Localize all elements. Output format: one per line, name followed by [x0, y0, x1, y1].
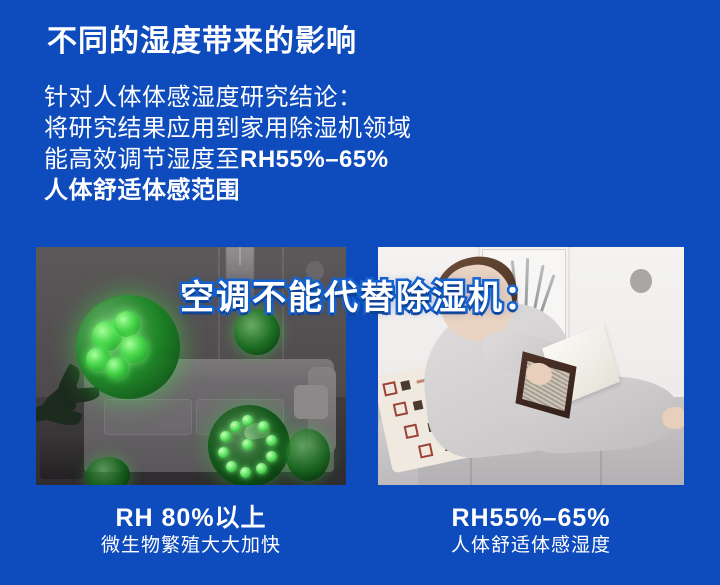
- copy-line-3: 能高效调节湿度至RH55%–65%: [44, 144, 514, 175]
- left-photo-pillow: [294, 385, 328, 419]
- bacteria-sphere-small: [86, 457, 130, 485]
- copy-line-3-prefix: 能高效调节湿度至: [44, 146, 240, 173]
- left-photo-sofa-cushion: [104, 399, 192, 435]
- caption-right-title: RH55%–65%: [378, 503, 684, 533]
- left-photo-plant-pot: [40, 433, 84, 479]
- overlay-headline: 空调不能代替除湿机：: [0, 270, 720, 319]
- caption-right-subtitle: 人体舒适体感湿度: [378, 533, 684, 559]
- copy-line-2: 将研究结果应用到家用除湿机领域: [44, 113, 514, 144]
- page-title: 不同的湿度带来的影响: [47, 16, 357, 60]
- body-copy-block: 针对人体体感湿度研究结论： 将研究结果应用到家用除湿机领域 能高效调节湿度至RH…: [44, 82, 514, 206]
- copy-line-3-emphasis: RH55%–65%: [240, 146, 389, 173]
- caption-left: RH 80%以上 微生物繁殖大大加快: [36, 503, 346, 559]
- right-photo-person-foot: [662, 407, 684, 429]
- copy-line-1: 针对人体体感湿度研究结论：: [44, 82, 514, 113]
- caption-left-title: RH 80%以上: [36, 503, 346, 533]
- copy-line-4: 人体舒适体感范围: [44, 175, 514, 206]
- poster-canvas: 不同的湿度带来的影响 针对人体体感湿度研究结论： 将研究结果应用到家用除湿机领域…: [0, 0, 720, 585]
- bacteria-sphere-small: [286, 429, 330, 481]
- caption-left-subtitle: 微生物繁殖大大加快: [36, 533, 346, 559]
- virus-sphere-spiked: [208, 405, 290, 485]
- caption-right: RH55%–65% 人体舒适体感湿度: [378, 503, 684, 559]
